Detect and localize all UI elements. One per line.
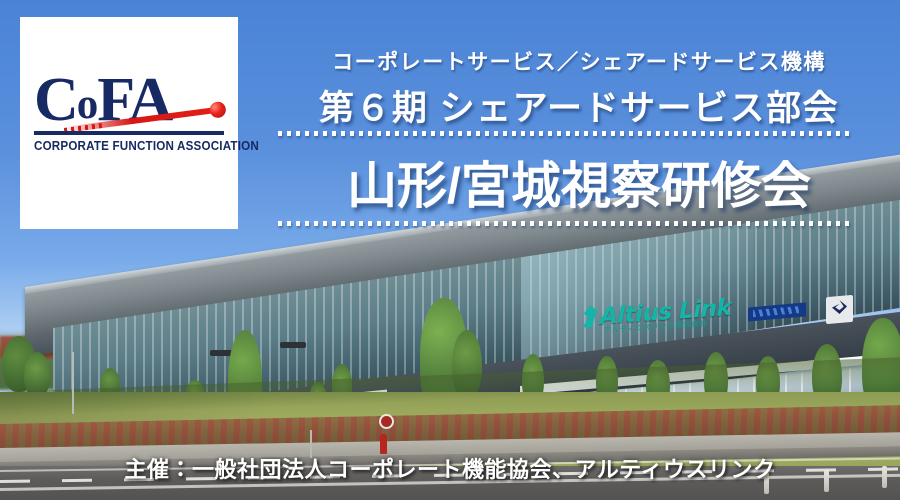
cofa-underline xyxy=(34,131,224,135)
cofa-logo-box: CoFA CORPORATE FUNCTION ASSOCIATION xyxy=(20,17,238,229)
dotted-divider-bottom xyxy=(278,221,850,226)
soffit-light xyxy=(280,342,306,348)
road-sign-icon xyxy=(379,414,394,429)
altius-link-logo-icon xyxy=(583,305,597,328)
cofa-tagline: CORPORATE FUNCTION ASSOCIATION xyxy=(34,139,211,153)
subtitle-text: 第６期 シェアードサービス部会 xyxy=(258,80,900,131)
cofa-logo: CoFA CORPORATE FUNCTION ASSOCIATION xyxy=(20,69,238,179)
cofa-wordmark: CoFA xyxy=(34,69,224,136)
organizer-credit: 主催：一般社団法人コーポレート機能協会、アルティウスリンク xyxy=(0,452,900,484)
fire-hydrant xyxy=(380,434,387,454)
eyebrow-text: コーポレートサービス／シェアードサービス機構 xyxy=(258,46,900,76)
event-banner: Altius Link アルティウスリンク株式会社 xyxy=(0,0,900,500)
cofa-wordmark-o: o xyxy=(77,81,98,128)
page-title: 山形/宮城視察研修会 xyxy=(258,146,900,218)
header-text-block: コーポレートサービス／シェアードサービス機構 第６期 シェアードサービス部会 山… xyxy=(258,0,900,236)
corporate-emblem-sign xyxy=(826,295,853,324)
dotted-divider-top xyxy=(278,131,850,136)
utility-pole xyxy=(72,352,74,414)
